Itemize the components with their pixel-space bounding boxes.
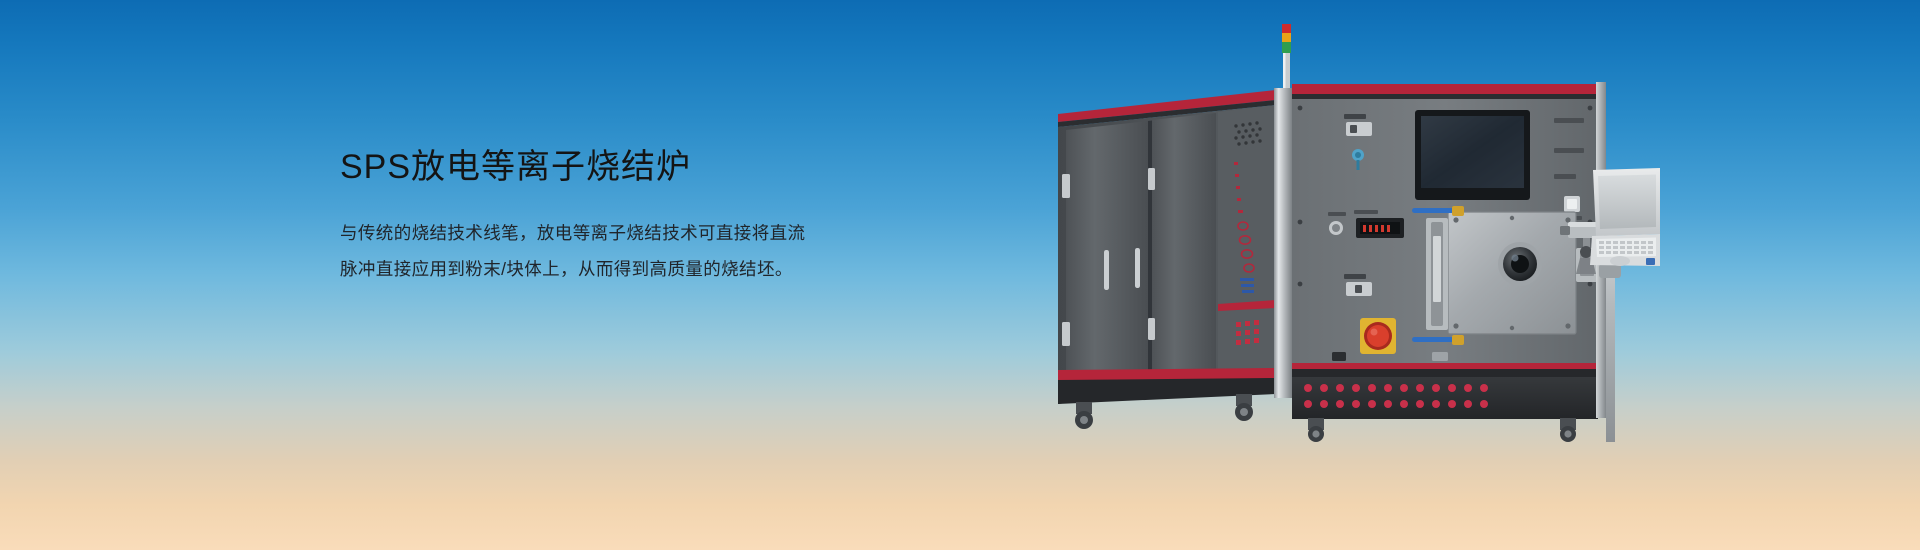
description-line-1: 与传统的烧结技术线笔，放电等离子烧结技术可直接将直流 xyxy=(340,215,900,251)
laptop-trackpad xyxy=(1610,256,1630,266)
control-cabinet-doors xyxy=(1058,90,1276,404)
blue-label-strip xyxy=(1240,278,1254,293)
description-line-2: 脉冲直接应用到粉末/块体上，从而得到高质量的烧结坯。 xyxy=(340,251,900,287)
product-hero-banner: SPS放电等离子烧结炉 与传统的烧结技术线笔，放电等离子烧结技术可直接将直流 脉… xyxy=(0,0,1920,550)
lower-button-array xyxy=(1236,320,1259,345)
hero-text-block: SPS放电等离子烧结炉 与传统的烧结技术线笔，放电等离子烧结技术可直接将直流 脉… xyxy=(340,145,900,287)
product-description: 与传统的烧结技术线笔，放电等离子烧结技术可直接将直流 脉冲直接应用到粉末/块体上… xyxy=(340,215,900,287)
signal-tower-light xyxy=(1282,24,1291,95)
sps-furnace-product-image xyxy=(1040,22,1660,442)
hmi-touch-screen xyxy=(1415,110,1530,200)
laptop-badge xyxy=(1646,258,1655,265)
chamber-viewport-window xyxy=(1498,242,1542,286)
emergency-stop-button xyxy=(1360,318,1396,354)
operator-panel xyxy=(1292,84,1598,377)
lower-base-cabinet xyxy=(1292,377,1598,419)
control-laptop xyxy=(1590,168,1660,266)
page-title: SPS放电等离子烧结炉 xyxy=(340,145,900,189)
corner-pillar xyxy=(1274,88,1292,398)
reset-switch xyxy=(1332,352,1346,361)
aux-switch xyxy=(1432,352,1448,361)
